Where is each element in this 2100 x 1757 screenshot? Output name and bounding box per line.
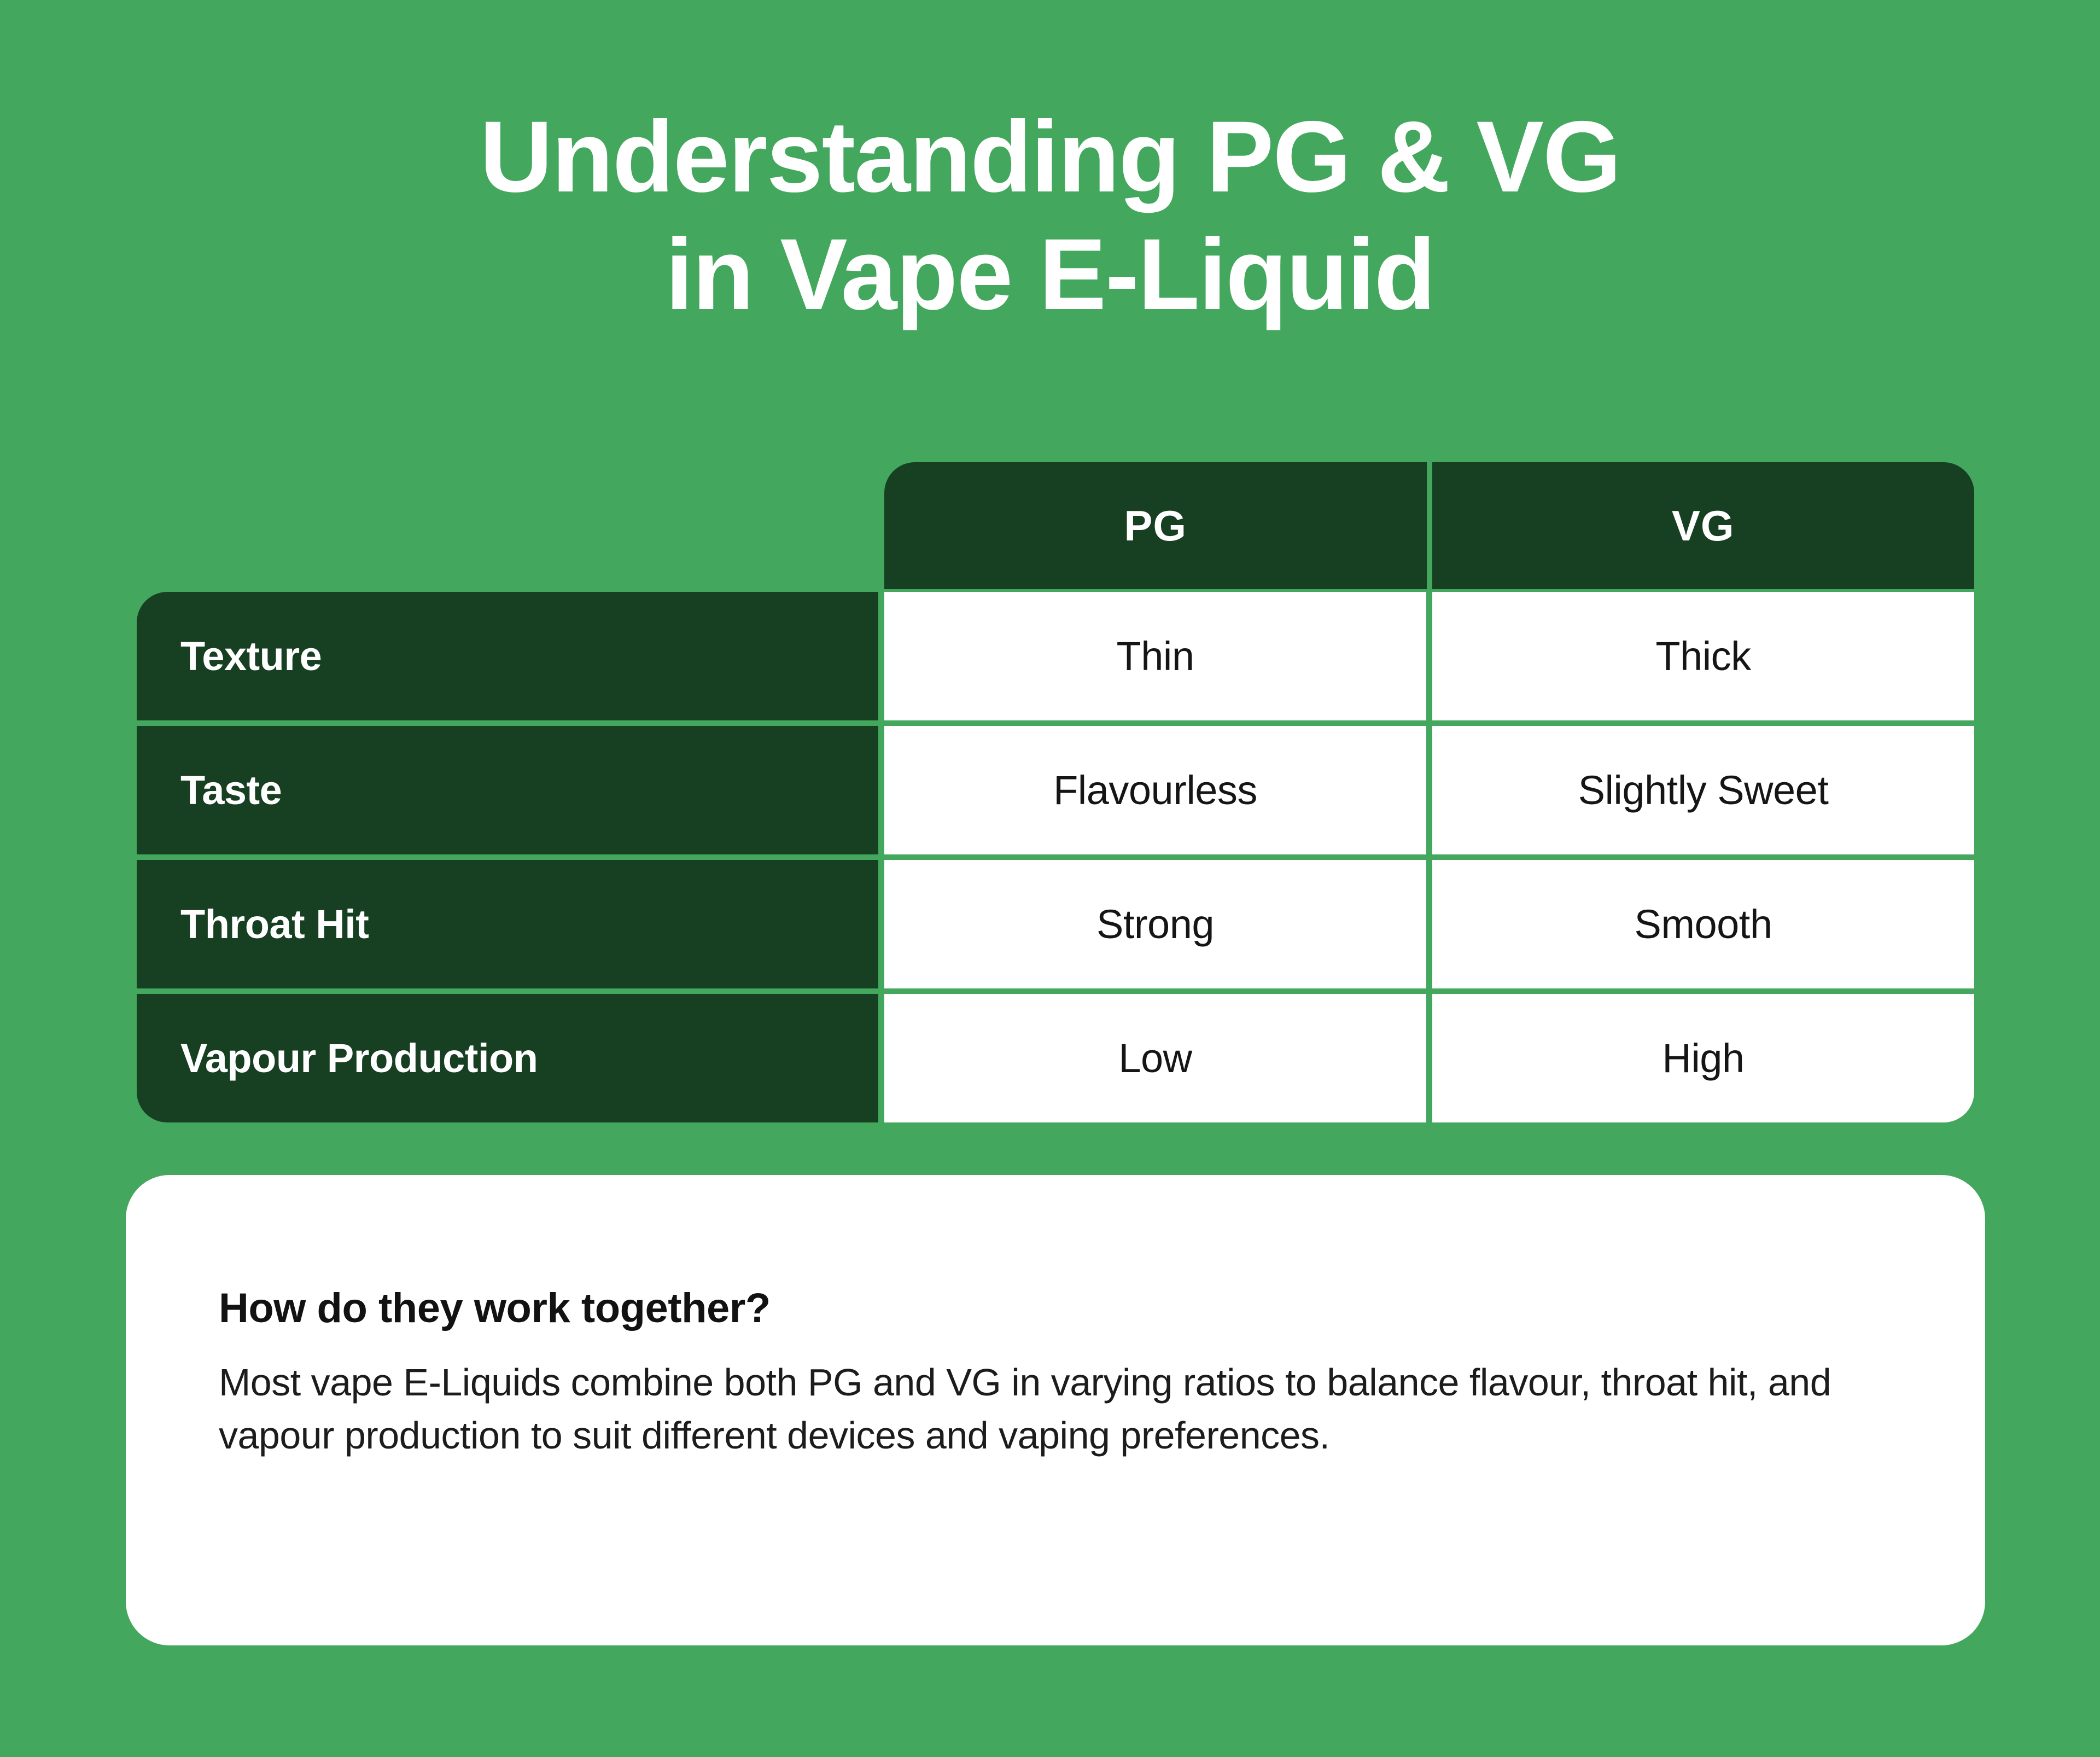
cell-vapour-production-pg-text: Low <box>1118 1035 1192 1081</box>
row-label-texture: Texture <box>137 592 878 720</box>
row-label-taste: Taste <box>137 726 878 854</box>
pg-vg-comparison-table: PG VG Texture Thin Thick Taste Flavourle… <box>137 462 1974 1116</box>
column-header-vg-label: VG <box>1672 501 1735 551</box>
column-header-vg: VG <box>1432 462 1975 589</box>
page-title-line-1: Understanding PG & VG <box>0 98 2100 216</box>
cell-texture-vg-text: Thick <box>1655 633 1751 679</box>
cell-throat-hit-pg-text: Strong <box>1096 901 1214 947</box>
table-row: Throat Hit Strong Smooth <box>137 860 1974 988</box>
table-row: Vapour Production Low High <box>137 994 1974 1122</box>
cell-throat-hit-vg: Smooth <box>1432 860 1974 988</box>
table-row: Texture Thin Thick <box>137 592 1974 720</box>
row-label-vapour-production: Vapour Production <box>137 994 878 1122</box>
table-row: Taste Flavourless Slightly Sweet <box>137 726 1974 854</box>
info-card: How do they work together? Most vape E-L… <box>126 1175 1985 1645</box>
column-header-pg: PG <box>884 462 1427 589</box>
cell-texture-pg: Thin <box>884 592 1426 720</box>
info-card-heading: How do they work together? <box>219 1284 1892 1332</box>
row-label-throat-hit: Throat Hit <box>137 860 878 988</box>
cell-vapour-production-vg: High <box>1432 994 1974 1122</box>
cell-vapour-production-vg-text: High <box>1662 1035 1744 1081</box>
table-body: Texture Thin Thick Taste Flavourless Sli… <box>137 592 1974 1116</box>
cell-texture-pg-text: Thin <box>1117 633 1194 679</box>
row-label-taste-text: Taste <box>180 767 282 813</box>
cell-vapour-production-pg: Low <box>884 994 1426 1122</box>
row-label-vapour-production-text: Vapour Production <box>180 1035 538 1081</box>
cell-throat-hit-vg-text: Smooth <box>1634 901 1772 947</box>
page-title: Understanding PG & VG in Vape E-Liquid <box>0 98 2100 333</box>
table-header-row: PG VG <box>884 462 1974 589</box>
cell-texture-vg: Thick <box>1432 592 1974 720</box>
cell-taste-pg: Flavourless <box>884 726 1426 854</box>
cell-taste-pg-text: Flavourless <box>1053 767 1257 813</box>
page-title-line-2: in Vape E-Liquid <box>0 216 2100 334</box>
cell-throat-hit-pg: Strong <box>884 860 1426 988</box>
column-header-pg-label: PG <box>1124 501 1187 551</box>
cell-taste-vg-text: Slightly Sweet <box>1578 767 1829 813</box>
row-label-texture-text: Texture <box>180 633 322 679</box>
row-label-throat-hit-text: Throat Hit <box>180 901 369 947</box>
cell-taste-vg: Slightly Sweet <box>1432 726 1974 854</box>
info-card-body: Most vape E-Liquids combine both PG and … <box>219 1356 1892 1462</box>
